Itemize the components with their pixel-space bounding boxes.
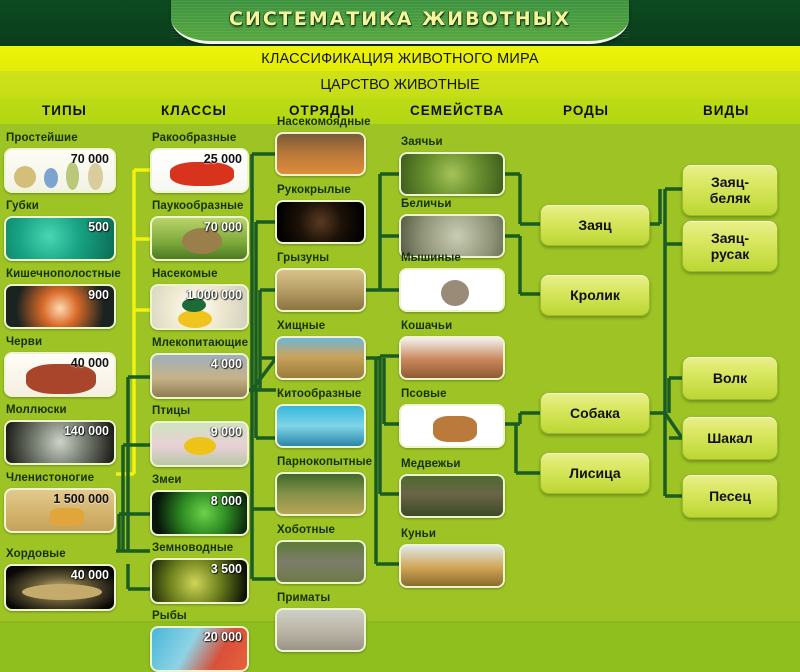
class-count: 4 000 (211, 357, 242, 371)
phylum-count: 900 (88, 288, 109, 302)
mouse-icon (401, 270, 503, 310)
class-label: Млекопитающие (152, 337, 248, 349)
order-image-card[interactable] (275, 608, 366, 652)
class-label: Ракообразные (152, 132, 236, 144)
family-label: Псовые (401, 388, 447, 400)
order-image-card[interactable] (275, 404, 366, 448)
bat-icon (277, 202, 364, 242)
family-label: Кошачьи (401, 320, 452, 332)
genus-box-fox[interactable]: Лисица (540, 452, 650, 494)
rodent-family-links (366, 174, 400, 290)
order-label: Китообразные (277, 388, 361, 400)
class-count: 9 000 (211, 425, 242, 439)
classification-board: Простейшие 70 000 Губки 500 Кишечнополос… (0, 124, 800, 623)
dog-icon (401, 406, 503, 446)
artiodactyl-icon (277, 474, 364, 514)
hare-genus-links (505, 174, 540, 294)
phylum-count: 140 000 (64, 424, 109, 438)
phylum-image-card[interactable]: 900 (4, 284, 116, 329)
class-count: 25 000 (204, 152, 242, 166)
phylum-count: 1 500 000 (53, 492, 109, 506)
order-label: Хищные (277, 320, 325, 332)
marten-icon (401, 546, 503, 586)
phylum-image-card[interactable]: 500 (4, 216, 116, 261)
class-count: 8 000 (211, 494, 242, 508)
class-label: Насекомые (152, 268, 218, 280)
family-label: Заячьи (401, 136, 443, 148)
phylum-image-card[interactable]: 1 500 000 (4, 488, 116, 533)
class-count: 70 000 (204, 220, 242, 234)
family-image-card[interactable] (399, 336, 505, 380)
phylum-label: Кишечнополостные (6, 268, 121, 280)
order-label: Грызуны (277, 252, 329, 264)
phylum-count: 40 000 (71, 356, 109, 370)
cat-icon (401, 338, 503, 378)
subtitle-kingdom: ЦАРСТВО ЖИВОТНЫЕ (0, 71, 800, 98)
family-image-card[interactable] (399, 152, 505, 196)
class-image-card[interactable]: 9 000 (150, 421, 249, 467)
class-label: Змеи (152, 474, 182, 486)
column-header-genera: РОДЫ (563, 103, 609, 118)
hare-icon (401, 154, 503, 194)
phylum-image-card[interactable]: 140 000 (4, 420, 116, 465)
family-label: Беличьи (401, 198, 452, 210)
order-label: Парнокопытные (277, 456, 372, 468)
class-label: Птицы (152, 405, 190, 417)
poster-title: СИСТЕМАТИКА ЖИВОТНЫХ (0, 8, 800, 30)
order-label: Насекомоядные (277, 116, 371, 128)
order-label: Хоботные (277, 524, 335, 536)
species-box-arctic-fox[interactable]: Песец (682, 474, 778, 518)
class-image-card[interactable]: 25 000 (150, 148, 249, 193)
column-header-phyla: ТИПЫ (42, 103, 87, 118)
primate-icon (277, 610, 364, 650)
class-count: 1 000 000 (186, 288, 242, 302)
arthropod-links (116, 170, 152, 474)
phylum-label: Моллюски (6, 404, 67, 416)
canine-genus-links (505, 413, 540, 473)
family-image-card[interactable] (399, 404, 505, 448)
class-image-card[interactable]: 8 000 (150, 490, 249, 536)
class-label: Земноводные (152, 542, 233, 554)
subtitle-classification: КЛАССИФИКАЦИЯ ЖИВОТНОГО МИРА (0, 46, 800, 71)
column-header-bar: ТИПЫ КЛАССЫ ОТРЯДЫ СЕМЕЙСТВА РОДЫ ВИДЫ (0, 98, 800, 124)
phylum-label: Членистоногие (6, 472, 94, 484)
column-header-species: ВИДЫ (703, 103, 749, 118)
phylum-image-card[interactable]: 40 000 (4, 352, 116, 397)
proboscidean-icon (277, 542, 364, 582)
phylum-count: 70 000 (71, 152, 109, 166)
species-box-mountain-hare[interactable]: Заяц- беляк (682, 164, 778, 216)
class-image-card[interactable]: 4 000 (150, 353, 249, 399)
family-label: Куньи (401, 528, 436, 540)
family-label: Мышиные (401, 252, 461, 264)
order-image-card[interactable] (275, 472, 366, 516)
phylum-label: Губки (6, 200, 39, 212)
family-image-card[interactable] (399, 474, 505, 518)
family-image-card[interactable] (399, 544, 505, 588)
cetacean-icon (277, 406, 364, 446)
insectivore-icon (277, 134, 364, 174)
squirrel-icon (401, 216, 503, 256)
phylum-image-card[interactable]: 40 000 (4, 564, 116, 611)
genus-box-rabbit[interactable]: Кролик (540, 274, 650, 316)
phylum-count: 500 (88, 220, 109, 234)
class-image-card[interactable]: 3 500 (150, 558, 249, 604)
phylum-count: 40 000 (71, 568, 109, 582)
phylum-image-card[interactable]: 70 000 (4, 148, 116, 193)
family-image-card[interactable] (399, 268, 505, 312)
family-label: Медвежьи (401, 458, 461, 470)
order-image-card[interactable] (275, 200, 366, 244)
column-header-families: СЕМЕЙСТВА (410, 103, 504, 118)
species-box-wolf[interactable]: Волк (682, 356, 778, 400)
class-count: 3 500 (211, 562, 242, 576)
genus-box-dog[interactable]: Собака (540, 392, 650, 434)
order-image-card[interactable] (275, 268, 366, 312)
rodent-icon (277, 270, 364, 310)
order-label: Приматы (277, 592, 330, 604)
species-box-jackal[interactable]: Шакал (682, 416, 778, 460)
order-image-card[interactable] (275, 336, 366, 380)
phylum-label: Простейшие (6, 132, 78, 144)
genus-box-hare[interactable]: Заяц (540, 204, 650, 246)
bear-icon (401, 476, 503, 516)
column-header-classes: КЛАССЫ (161, 103, 227, 118)
class-count: 20 000 (204, 630, 242, 644)
phylum-label: Хордовые (6, 548, 66, 560)
class-image-card[interactable]: 1 000 000 (150, 284, 249, 330)
order-label: Рукокрылые (277, 184, 351, 196)
order-image-card[interactable] (275, 540, 366, 584)
class-image-card[interactable]: 20 000 (150, 626, 249, 672)
order-image-card[interactable] (275, 132, 366, 176)
class-label: Рыбы (152, 610, 187, 622)
carnivore-icon (277, 338, 364, 378)
species-box-brown-hare[interactable]: Заяц- русак (682, 220, 778, 272)
class-label: Паукообразные (152, 200, 244, 212)
phylum-label: Черви (6, 336, 42, 348)
genus-species-links (650, 189, 682, 496)
class-image-card[interactable]: 70 000 (150, 216, 249, 261)
